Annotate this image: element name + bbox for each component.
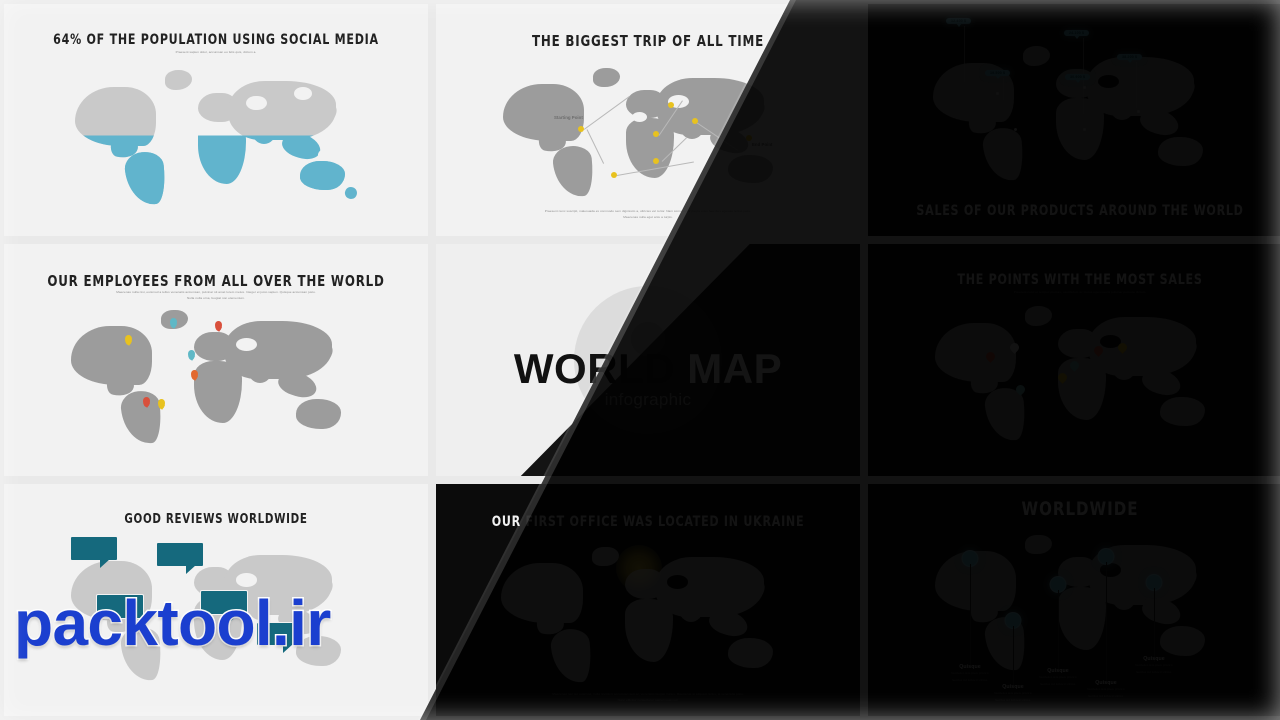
node-label: Quisque bbox=[1087, 680, 1125, 686]
panel-title: SALES OF OUR PRODUCTS AROUND THE WORLD bbox=[893, 203, 1266, 219]
employee-pin[interactable] bbox=[125, 335, 132, 345]
sales-badge[interactable]: 12.400 $ bbox=[946, 18, 971, 24]
employee-pin[interactable] bbox=[158, 399, 165, 409]
node-desc-line-2: faucibus orci luctus et ultrices. bbox=[951, 679, 989, 684]
site-watermark: packtool.ir bbox=[14, 586, 331, 660]
route-stop[interactable] bbox=[653, 158, 659, 164]
panel-world-map-title[interactable]: WORLD MAP infographic bbox=[436, 244, 860, 476]
badge-leader bbox=[1003, 78, 1004, 100]
panel-subtitle: Praesent sapien dolor, accumsan eu felis… bbox=[176, 50, 257, 55]
review-bubble[interactable] bbox=[156, 542, 204, 567]
badge-leader bbox=[964, 26, 965, 82]
panel-title: GOOD REVIEWS WORLDWIDE bbox=[29, 512, 402, 527]
end-point-label: End Point bbox=[752, 142, 773, 147]
node-desc-line-2: faucibus orci luctus et ultrices. bbox=[1039, 683, 1077, 688]
panel-sales-around-world[interactable]: 12.400 $ 24.100 $ 38.200 $ 19.500 $ 30.9… bbox=[868, 4, 1280, 236]
route-stop[interactable] bbox=[692, 118, 698, 124]
screenshot-stage: 64% OF THE POPULATION USING SOCIAL MEDIA… bbox=[0, 0, 1280, 720]
world-map bbox=[62, 306, 362, 452]
sales-badge[interactable]: 24.100 $ bbox=[1064, 30, 1089, 36]
world-map bbox=[66, 66, 366, 214]
main-subtitle-part-2: graphic bbox=[633, 390, 691, 409]
main-subtitle: infographic bbox=[436, 390, 860, 410]
main-title-word-1: WORLD bbox=[514, 345, 675, 392]
route-stop[interactable] bbox=[653, 131, 659, 137]
node-desc-line-1: Vestibulum ante ipsum primis in bbox=[994, 692, 1032, 697]
employee-pin[interactable] bbox=[188, 350, 195, 360]
panel-population-social-media[interactable]: 64% OF THE POPULATION USING SOCIAL MEDIA… bbox=[4, 4, 428, 236]
node-label: Quisque bbox=[1135, 656, 1173, 662]
panel-subtitle-line-1: Maecenas nec leo euismod, nulla tincidun… bbox=[552, 692, 744, 697]
panel-title: 64% OF THE POPULATION USING SOCIAL MEDIA bbox=[29, 32, 402, 48]
node-desc-line-1: Vestibulum ante ipsum primis in bbox=[1135, 664, 1173, 669]
panel-biggest-trip[interactable]: THE BIGGEST TRIP OF ALL TIME bbox=[436, 4, 860, 236]
panel-first-office-ukraine[interactable]: OUR FIRST OFFICE WAS LOCATED IN UKRAINE … bbox=[436, 484, 860, 716]
node-label: Quisque bbox=[951, 664, 989, 670]
panel-subtitle-line-1: Praesent nunc suscipit, malesuada ex com… bbox=[545, 209, 751, 214]
employee-pin[interactable] bbox=[170, 318, 177, 328]
panel-employees-worldwide[interactable]: OUR EMPLOYEES FROM ALL OVER THE WORLD Ma… bbox=[4, 244, 428, 476]
route-stop[interactable] bbox=[746, 135, 752, 141]
panel-subtitle-line-2: Nunc efficitur consectetur sapien euismo… bbox=[618, 698, 679, 703]
main-subtitle-part-1: info bbox=[605, 390, 634, 409]
panel-title: WORLDWIDE bbox=[893, 498, 1266, 520]
world-map bbox=[924, 42, 1224, 190]
panel-title: OUR FIRST OFFICE WAS LOCATED IN UKRAINE bbox=[461, 514, 834, 530]
panel-worldwide-nodes[interactable]: WORLDWIDE Quisque bbox=[868, 484, 1280, 716]
world-map bbox=[926, 302, 1226, 450]
world-map: Starting Point End Point bbox=[494, 64, 794, 206]
start-point-label: Starting Point bbox=[554, 115, 583, 120]
employee-pin[interactable] bbox=[191, 370, 198, 380]
node-desc-line-1: Vestibulum ante ipsum primis in bbox=[951, 672, 989, 677]
badge-leader bbox=[1136, 62, 1137, 108]
sales-badge[interactable]: 19.500 $ bbox=[985, 70, 1010, 76]
employee-pin[interactable] bbox=[143, 397, 150, 407]
badge-leader bbox=[1083, 82, 1084, 114]
review-bubble[interactable] bbox=[70, 536, 118, 561]
employee-pin[interactable] bbox=[215, 321, 222, 331]
panel-subtitle-line-2: Nulla nulla urna, feugiat non elementum. bbox=[187, 296, 245, 301]
main-title: WORLD MAP bbox=[436, 348, 860, 390]
main-title-word-2: MAP bbox=[687, 345, 782, 392]
panel-subtitle-line-1: Maecenas nulla nisi, euismod a tellus ve… bbox=[116, 290, 316, 295]
node-desc-line-2: faucibus orci luctus et ultrices. bbox=[1087, 695, 1125, 700]
sales-point[interactable] bbox=[1083, 128, 1086, 131]
node-label: Quisque bbox=[1039, 668, 1077, 674]
panel-title: THE BIGGEST TRIP OF ALL TIME bbox=[461, 32, 834, 50]
panel-subtitle-line-2: Maecenas nulla eget arcu a turpis. bbox=[623, 215, 672, 220]
node-desc-line-2: faucibus orci luctus et ultrices. bbox=[994, 699, 1032, 704]
node-desc-line-1: Vestibulum ante ipsum primis in bbox=[1087, 688, 1125, 693]
panel-most-sales-points[interactable]: THE POINTS WITH THE MOST SALES Praesent … bbox=[868, 244, 1280, 476]
route-stop[interactable] bbox=[611, 172, 617, 178]
sales-point[interactable] bbox=[1014, 128, 1017, 131]
panel-subtitle: Praesent nunc et tempus pretium, vestibu… bbox=[1014, 290, 1147, 295]
panel-title: THE POINTS WITH THE MOST SALES bbox=[893, 272, 1266, 288]
node-desc-line-2: faucibus orci luctus et ultrices. bbox=[1135, 671, 1173, 676]
node-label: Quisque bbox=[994, 684, 1032, 690]
sales-badge[interactable]: 38.200 $ bbox=[1117, 54, 1142, 60]
office-location-glow bbox=[616, 545, 662, 591]
node-desc-line-1: Vestibulum ante ipsum primis in bbox=[1039, 676, 1077, 681]
route-stop[interactable] bbox=[578, 126, 584, 132]
world-map bbox=[492, 542, 794, 692]
panel-title: OUR EMPLOYEES FROM ALL OVER THE WORLD bbox=[29, 272, 402, 290]
sales-badge[interactable]: 30.900 $ bbox=[1065, 74, 1090, 80]
